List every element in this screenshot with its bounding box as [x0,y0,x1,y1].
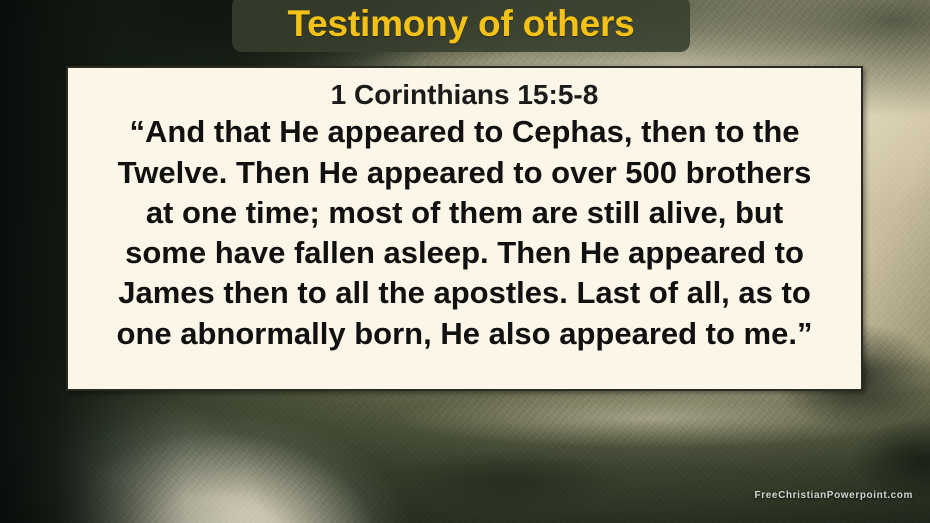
scripture-line: “And that He appeared to Cephas, then to… [82,112,847,152]
scripture-line: some have fallen asleep. Then He appeare… [82,233,847,273]
scripture-body: “And that He appeared to Cephas, then to… [82,112,847,354]
scripture-line: one abnormally born, He also appeared to… [82,314,847,354]
scripture-line: at one time; most of them are still aliv… [82,193,847,233]
scripture-line: James then to all the apostles. Last of … [82,273,847,313]
watermark-credit: FreeChristianPowerpoint.com [755,490,913,501]
slide-title: Testimony of others [287,3,634,45]
scripture-line: Twelve. Then He appeared to over 500 bro… [82,153,847,193]
scripture-text-box: 1 Corinthians 15:5-8 “And that He appear… [66,66,863,391]
presentation-slide: Testimony of others 1 Corinthians 15:5-8… [0,0,930,523]
slide-title-band: Testimony of others [232,0,690,52]
scripture-reference: 1 Corinthians 15:5-8 [331,80,599,110]
